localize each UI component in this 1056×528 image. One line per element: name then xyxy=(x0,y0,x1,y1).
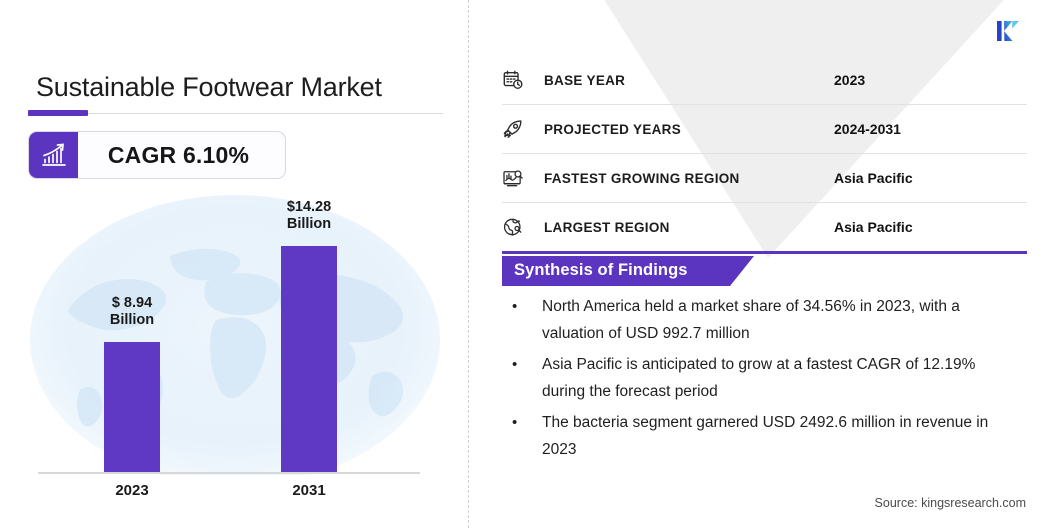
bar-category-2023: 2023 xyxy=(82,482,182,499)
synthesis-heading: Synthesis of Findings xyxy=(514,261,688,280)
spec-key: FASTEST GROWING REGION xyxy=(544,171,834,186)
spec-key: BASE YEAR xyxy=(544,73,834,88)
list-item-text: North America held a market share of 34.… xyxy=(542,298,960,342)
title-rule-accent xyxy=(28,110,88,116)
spec-value: 2024-2031 xyxy=(834,121,901,137)
cagr-badge: CAGR 6.10% xyxy=(28,131,286,179)
calendar-clock-icon xyxy=(502,69,544,91)
bullet-glyph: • xyxy=(512,351,517,378)
spec-value: 2023 xyxy=(834,72,865,88)
rocket-icon xyxy=(502,118,544,140)
list-item-text: Asia Pacific is anticipated to grow at a… xyxy=(542,356,975,400)
synthesis-banner: Synthesis of Findings xyxy=(502,256,1027,286)
findings-list: • North America held a market share of 3… xyxy=(502,293,1014,467)
bar-value-2023: $ 8.94 Billion xyxy=(82,295,182,329)
spec-value: Asia Pacific xyxy=(834,219,913,235)
globe-icon xyxy=(502,216,544,238)
source-label: Source: kingsresearch.com xyxy=(875,496,1026,510)
list-item-text: The bacteria segment garnered USD 2492.6… xyxy=(542,414,988,458)
left-panel: Sustainable Footwear Market xyxy=(0,0,468,528)
chart-axis-line xyxy=(38,472,420,474)
right-panel: BASE YEAR 2023 PROJECTED YEA xyxy=(468,0,1056,528)
table-row: FASTEST GROWING REGION Asia Pacific xyxy=(502,154,1027,203)
bullet-glyph: • xyxy=(512,293,517,320)
bar-2031 xyxy=(281,246,337,472)
spec-key: LARGEST REGION xyxy=(544,220,834,235)
spec-key: PROJECTED YEARS xyxy=(544,122,834,137)
bar-category-2031: 2031 xyxy=(259,482,359,499)
cagr-label: CAGR 6.10% xyxy=(78,132,285,178)
list-item: • North America held a market share of 3… xyxy=(502,293,1014,347)
page-title: Sustainable Footwear Market xyxy=(36,72,382,103)
bar-chart: $ 8.94 Billion 2023 $14.28 Billion 2031 xyxy=(20,190,450,520)
region-chart-icon xyxy=(502,167,544,189)
bar-value-2031: $14.28 Billion xyxy=(259,199,359,233)
infographic-root: Sustainable Footwear Market xyxy=(0,0,1056,528)
list-item: • Asia Pacific is anticipated to grow at… xyxy=(502,351,1014,405)
bullet-glyph: • xyxy=(512,409,517,436)
list-item: • The bacteria segment garnered USD 2492… xyxy=(502,409,1014,463)
title-rule xyxy=(28,113,443,114)
growth-bar-chart-icon xyxy=(29,132,78,178)
spec-table: BASE YEAR 2023 PROJECTED YEA xyxy=(502,56,1027,252)
table-row: LARGEST REGION Asia Pacific xyxy=(502,203,1027,252)
table-row: BASE YEAR 2023 xyxy=(502,56,1027,105)
kings-research-logo xyxy=(992,14,1026,48)
table-row: PROJECTED YEARS 2024-2031 xyxy=(502,105,1027,154)
bar-2023 xyxy=(104,342,160,472)
spec-value: Asia Pacific xyxy=(834,170,913,186)
table-underline xyxy=(502,251,1027,254)
